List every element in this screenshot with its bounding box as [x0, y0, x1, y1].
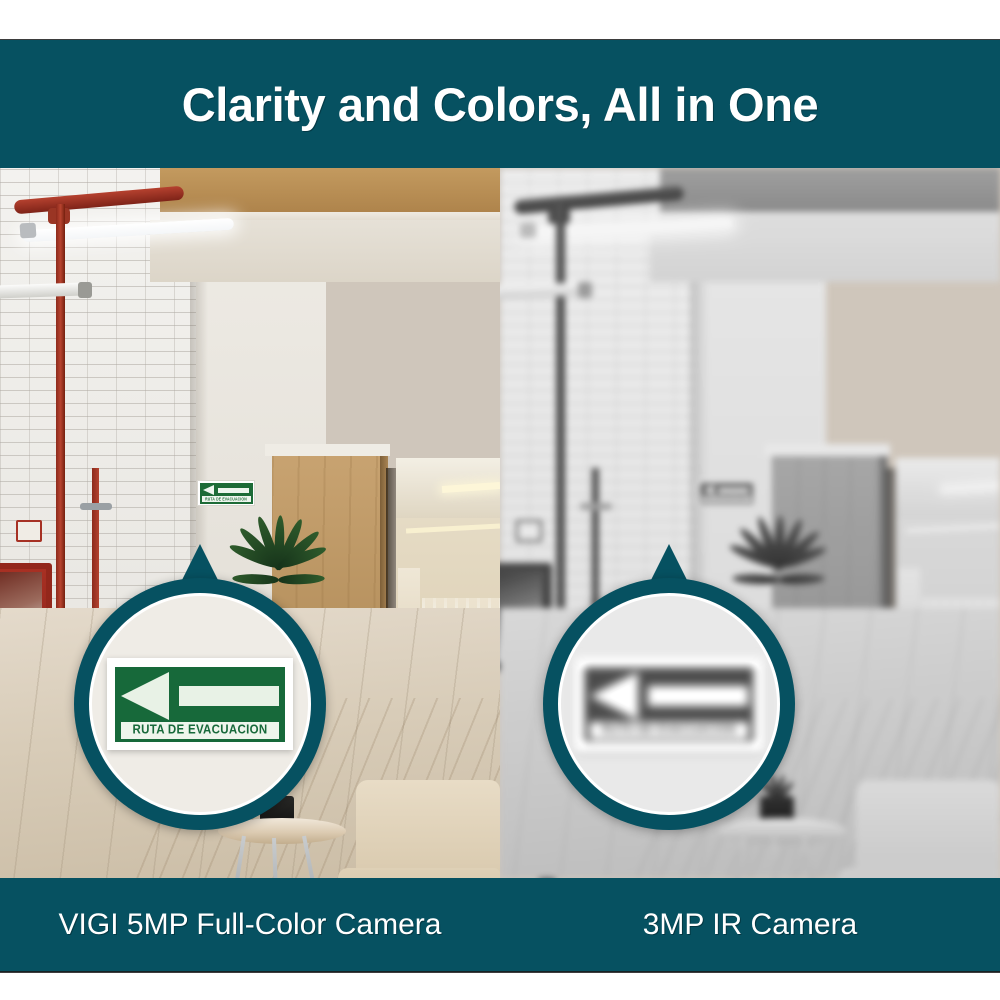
door-hinge: [580, 503, 612, 510]
door-hinge: [80, 503, 112, 510]
fire-alarm-pull-station: [16, 520, 42, 542]
wall-evacuation-sign: RUTA DE EVACUACION: [197, 480, 255, 506]
caption-right: 3MP IR Camera: [643, 908, 858, 941]
caption-left-wrapper: VIGI 5MP Full-Color Camera: [0, 908, 500, 942]
sofa-seat: [838, 868, 1000, 878]
callout-lens-left: RUTA DE EVACUACION: [89, 593, 311, 815]
arrow-shaft: [179, 686, 279, 706]
wall-sign-label: RUTA DE EVACUACION: [705, 496, 747, 501]
tube-light-cap: [20, 223, 37, 239]
wood-wall-header: [765, 444, 890, 456]
white-pipe-cap: [78, 282, 92, 298]
zoomed-evacuation-sign-color: RUTA DE EVACUACION: [107, 658, 293, 750]
magnifier-callout-left: RUTA DE EVACUACION: [74, 578, 326, 830]
sofa-backrest: [856, 780, 1000, 878]
bottom-divider-rule: [0, 971, 1000, 973]
callout-lens-right: RUTA DE EVACUACION: [558, 593, 780, 815]
fire-alarm-pull-station: [516, 520, 542, 542]
zoomed-arrow-left-icon: [121, 672, 279, 719]
caption-right-wrapper: 3MP IR Camera: [500, 908, 1000, 942]
wall-evacuation-sign: RUTA DE EVACUACION: [697, 480, 755, 506]
tube-light-cap: [520, 223, 537, 239]
sofa-seat: [338, 868, 500, 878]
wall-sign-arrow-icon: [202, 485, 251, 496]
header-banner: Clarity and Colors, All in One: [0, 40, 1000, 168]
zoomed-sign-face: RUTA DE EVACUACION: [112, 664, 288, 745]
inner-ceiling-lamp-2: [406, 524, 500, 534]
arrow-head: [121, 672, 169, 720]
white-pipe-cap: [578, 282, 592, 298]
red-sprinkler-pipe-vertical: [56, 204, 65, 644]
wall-sign-face: RUTA DE EVACUACION: [700, 483, 753, 504]
inner-ceiling-lamp-2: [906, 524, 1000, 534]
arrow-head: [590, 672, 638, 720]
product-comparison-poster: Clarity and Colors, All in One: [0, 0, 1000, 1000]
wall-sign-text-bar: RUTA DE EVACUACION: [702, 496, 751, 502]
arrow-shaft: [648, 686, 748, 706]
zoomed-sign-label: RUTA DE EVACUACION: [602, 723, 737, 737]
zoomed-sign-text-bar: RUTA DE EVACUACION: [590, 722, 748, 739]
caption-left: VIGI 5MP Full-Color Camera: [59, 908, 442, 941]
page-title: Clarity and Colors, All in One: [182, 77, 819, 132]
wood-wall-header: [265, 444, 390, 456]
wall-sign-arrow-icon: [702, 485, 751, 496]
zoomed-sign-label: RUTA DE EVACUACION: [133, 723, 268, 737]
wall-sign-label: RUTA DE EVACUACION: [205, 496, 247, 501]
zoomed-arrow-left-icon: [590, 672, 748, 719]
caption-bar: VIGI 5MP Full-Color Camera 3MP IR Camera: [0, 878, 1000, 972]
comparison-image-stage: RUTA DE EVACUACION: [0, 168, 1000, 878]
wall-sign-face: RUTA DE EVACUACION: [200, 483, 253, 504]
wall-sign-text-bar: RUTA DE EVACUACION: [202, 496, 251, 502]
zoomed-evacuation-sign-grayscale: RUTA DE EVACUACION: [576, 658, 762, 750]
zoomed-sign-text-bar: RUTA DE EVACUACION: [121, 722, 279, 739]
magnifier-callout-right: RUTA DE EVACUACION: [543, 578, 795, 830]
sofa-backrest: [356, 780, 500, 878]
zoomed-sign-face: RUTA DE EVACUACION: [581, 664, 757, 745]
